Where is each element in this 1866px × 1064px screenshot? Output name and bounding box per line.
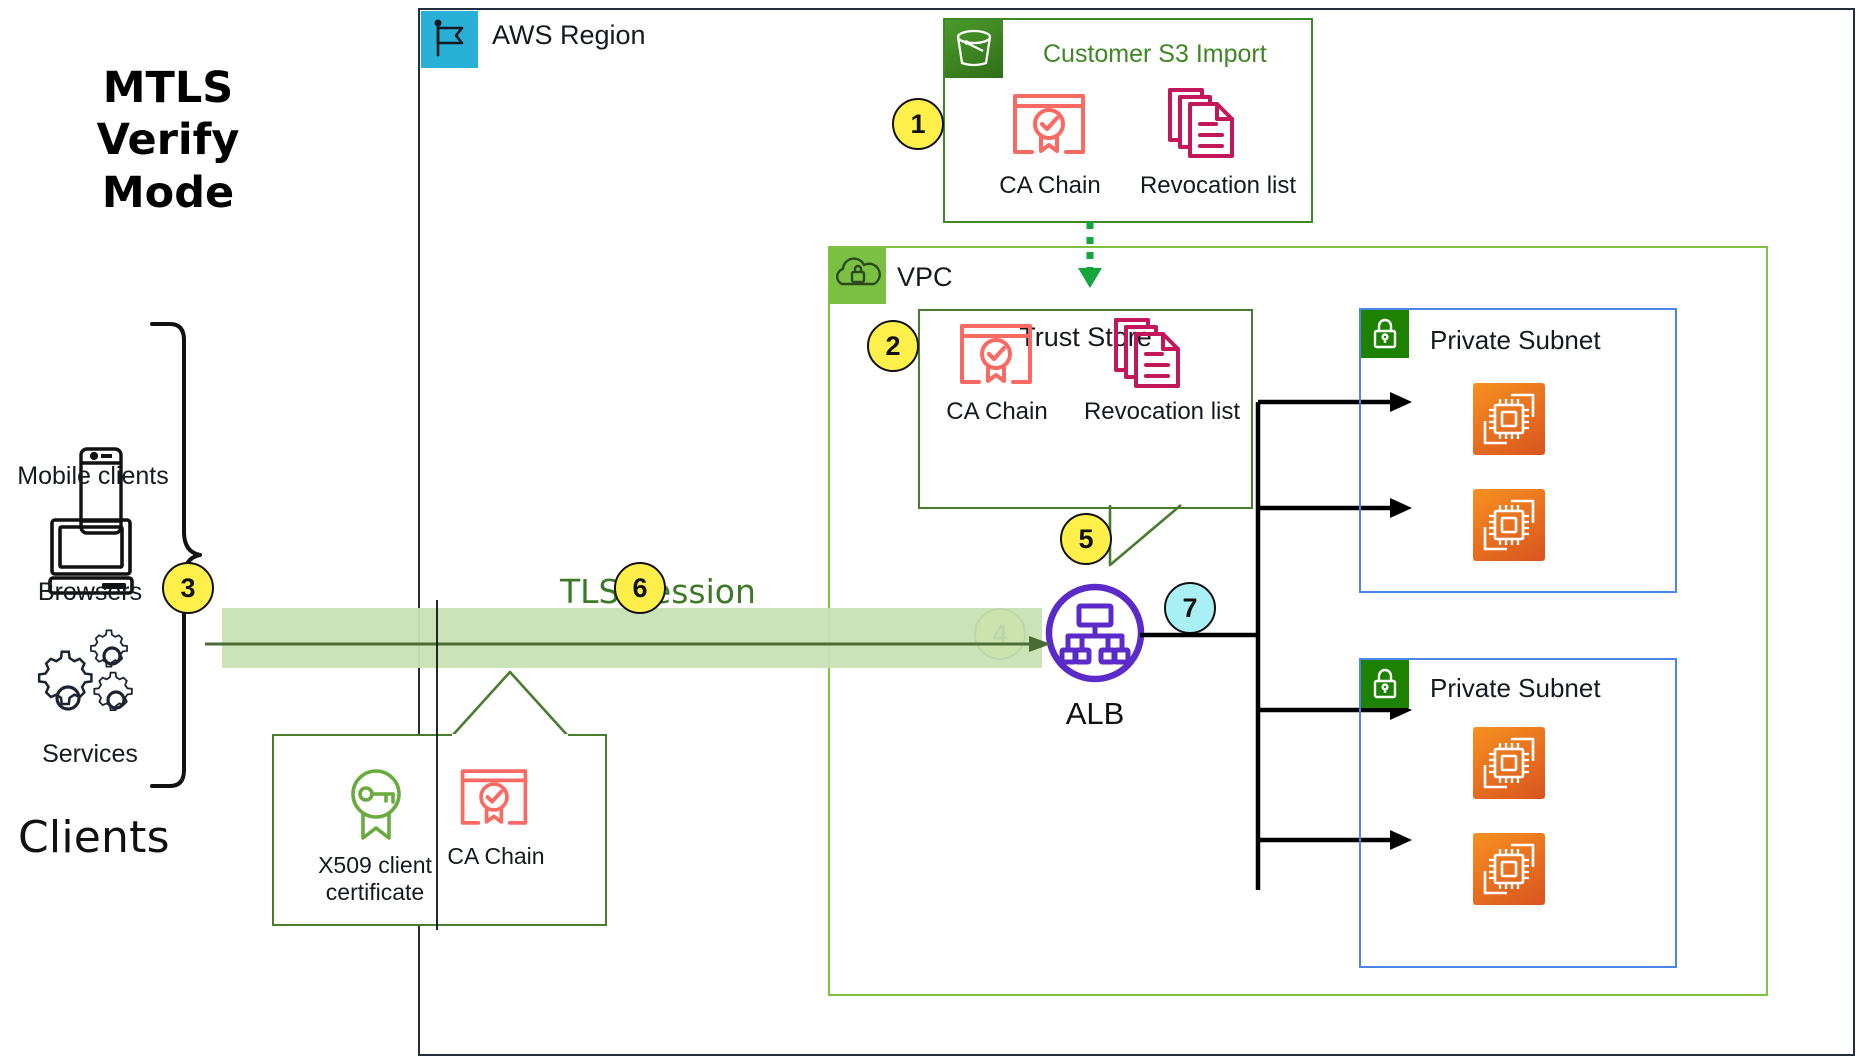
vpc-cloud-lock-icon <box>830 248 886 304</box>
aws-region-flag-icon <box>421 11 478 68</box>
load-balancer-icon[interactable] <box>1042 580 1148 686</box>
document-stack-icon <box>1162 84 1242 162</box>
page-title-line-2: Verify <box>48 114 288 166</box>
step-badge-2: 2 <box>867 320 919 372</box>
private-subnet-a-label: Private Subnet <box>1430 325 1601 356</box>
s3-ca-chain-label: CA Chain <box>985 172 1115 200</box>
lock-icon <box>1361 660 1409 708</box>
clients-group-label: Clients <box>18 812 170 863</box>
certificate-seal-icon <box>957 318 1035 390</box>
step-badge-3: 3 <box>162 562 214 614</box>
page-title: MTLS Verify Mode <box>48 62 288 219</box>
ec2-instance-icon <box>1473 489 1545 561</box>
diagram-canvas: MTLS Verify Mode Clients AWS Region Cust… <box>0 0 1866 1064</box>
clients-group-bracket <box>148 320 206 790</box>
customer-s3-import-label: Customer S3 Import <box>1043 40 1323 69</box>
page-title-line-3: Mode <box>48 167 288 219</box>
alb-label: ALB <box>1042 696 1148 732</box>
gears-icon <box>38 638 148 738</box>
step-badge-5: 5 <box>1060 513 1112 565</box>
key-seal-icon <box>342 764 410 842</box>
x509-label-line-1: X509 client <box>300 852 450 879</box>
lock-icon <box>1361 310 1409 358</box>
ec2-instance-icon <box>1473 727 1545 799</box>
aws-region-label: AWS Region <box>492 20 646 51</box>
ec2-instance-icon <box>1473 833 1545 905</box>
step-badge-1: 1 <box>892 98 944 150</box>
tls-session-arrow <box>205 634 1055 654</box>
s3-bucket-icon <box>945 20 1003 78</box>
callout-ca-chain-label: CA Chain <box>436 843 556 869</box>
vpc-label: VPC <box>897 262 953 293</box>
certificate-seal-icon <box>1010 88 1088 160</box>
trust-store-ca-chain-label: CA Chain <box>932 398 1062 426</box>
client-boundary-line <box>436 600 438 930</box>
x509-client-certificate-label: X509 client certificate <box>300 852 450 906</box>
step-badge-6: 6 <box>614 562 666 614</box>
page-title-line-1: MTLS <box>48 62 288 114</box>
x509-label-line-2: certificate <box>300 879 450 906</box>
ec2-instance-icon <box>1473 383 1545 455</box>
certificate-seal-icon <box>458 763 530 831</box>
private-subnet-b-label: Private Subnet <box>1430 673 1601 704</box>
document-stack-icon <box>1108 314 1188 392</box>
s3-revocation-list-label: Revocation list <box>1128 172 1308 200</box>
client-certificate-callout-tail <box>440 668 580 738</box>
